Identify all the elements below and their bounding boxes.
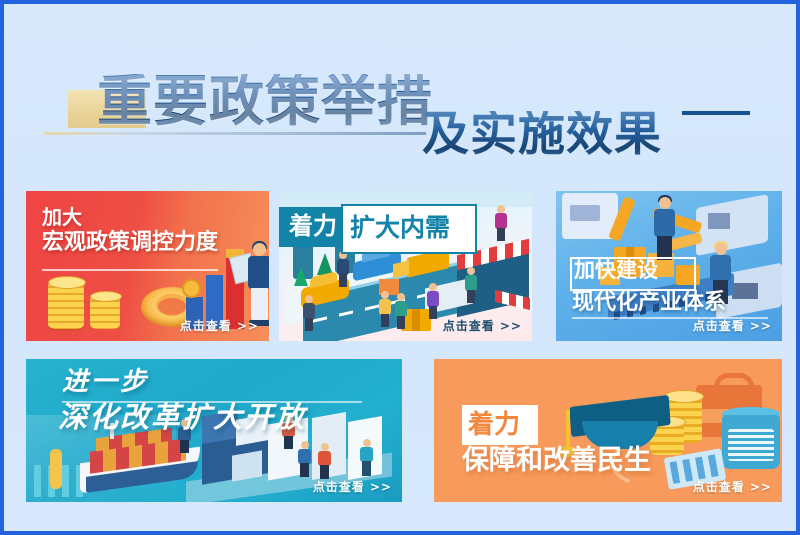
card-domestic-demand-line1: 着力 (289, 214, 337, 239)
machine-screen-1 (570, 205, 600, 221)
coin-icon (182, 279, 201, 298)
card-modern-industry-line2: 现代化产业体系 (572, 291, 726, 314)
medicine-jar-label (728, 429, 774, 461)
card-domestic-demand[interactable]: 着力 扩大内需 点击查看 >> (279, 191, 532, 341)
coin-top-icon (48, 276, 86, 289)
graduation-tassel (566, 409, 570, 449)
card-modern-industry-line1: 加快建设 (574, 259, 658, 281)
machine-screen-3 (732, 283, 758, 299)
card-livelihood-cta[interactable]: 点击查看 >> (693, 478, 772, 495)
card-domestic-demand-title-box: 扩大内需 (341, 204, 477, 254)
card-reform-opening-line2: 深化改革扩大开放 (58, 402, 306, 433)
card-macro-policy-line2: 宏观政策调控力度 (42, 231, 218, 254)
page-header: 重要政策举措 及实施效果 (4, 38, 796, 156)
card-domestic-demand-badge: 着力 (279, 207, 341, 247)
visitor-figure-3 (298, 441, 311, 477)
card-livelihood-line1: 着力 (468, 412, 520, 440)
coin-top-small-icon (90, 291, 122, 302)
card-macro-policy-title: 加大 宏观政策调控力度 (42, 207, 218, 255)
card-livelihood[interactable]: 着力 保障和改善民生 点击查看 >> (434, 359, 782, 502)
coin-top-tall-icon (664, 390, 704, 403)
tree-icon-2 (294, 267, 308, 286)
page-subtitle: 及实施效果 (422, 111, 662, 158)
card-reform-opening-cta[interactable]: 点击查看 >> (313, 478, 392, 495)
card-macro-policy-underline (42, 269, 218, 271)
page-frame: 重要政策举措 及实施效果 加大 宏观政策调控力度 点击查看 >> (4, 4, 796, 531)
visitor-figure-5 (360, 439, 373, 477)
card-macro-policy-line1: 加大 (42, 205, 82, 229)
title-rule-right (682, 111, 750, 115)
worker-figure-1 (652, 197, 678, 261)
card-macro-policy[interactable]: 加大 宏观政策调控力度 点击查看 >> (26, 191, 269, 341)
card-modern-industry-cta[interactable]: 点击查看 >> (693, 317, 772, 334)
card-livelihood-badge: 着力 (462, 405, 538, 445)
page-title: 重要政策举措 (97, 74, 433, 129)
card-macro-policy-cta[interactable]: 点击查看 >> (180, 317, 259, 334)
card-reform-opening[interactable]: 进一步 深化改革扩大开放 点击查看 >> (26, 359, 402, 502)
gold-pillar-icon (50, 449, 62, 489)
card-livelihood-line2: 保障和改善民生 (462, 447, 651, 476)
card-reform-opening-line1: 进一步 (62, 369, 149, 397)
machine-screen-2 (708, 213, 730, 229)
card-modern-industry[interactable]: 加快建设 现代化产业体系 点击查看 >> (556, 191, 782, 341)
card-domestic-demand-cta[interactable]: 点击查看 >> (443, 317, 522, 334)
exhibition-booth-7 (232, 450, 262, 481)
visitor-figure-4 (318, 443, 331, 479)
card-domestic-demand-line2: 扩大内需 (350, 215, 450, 242)
